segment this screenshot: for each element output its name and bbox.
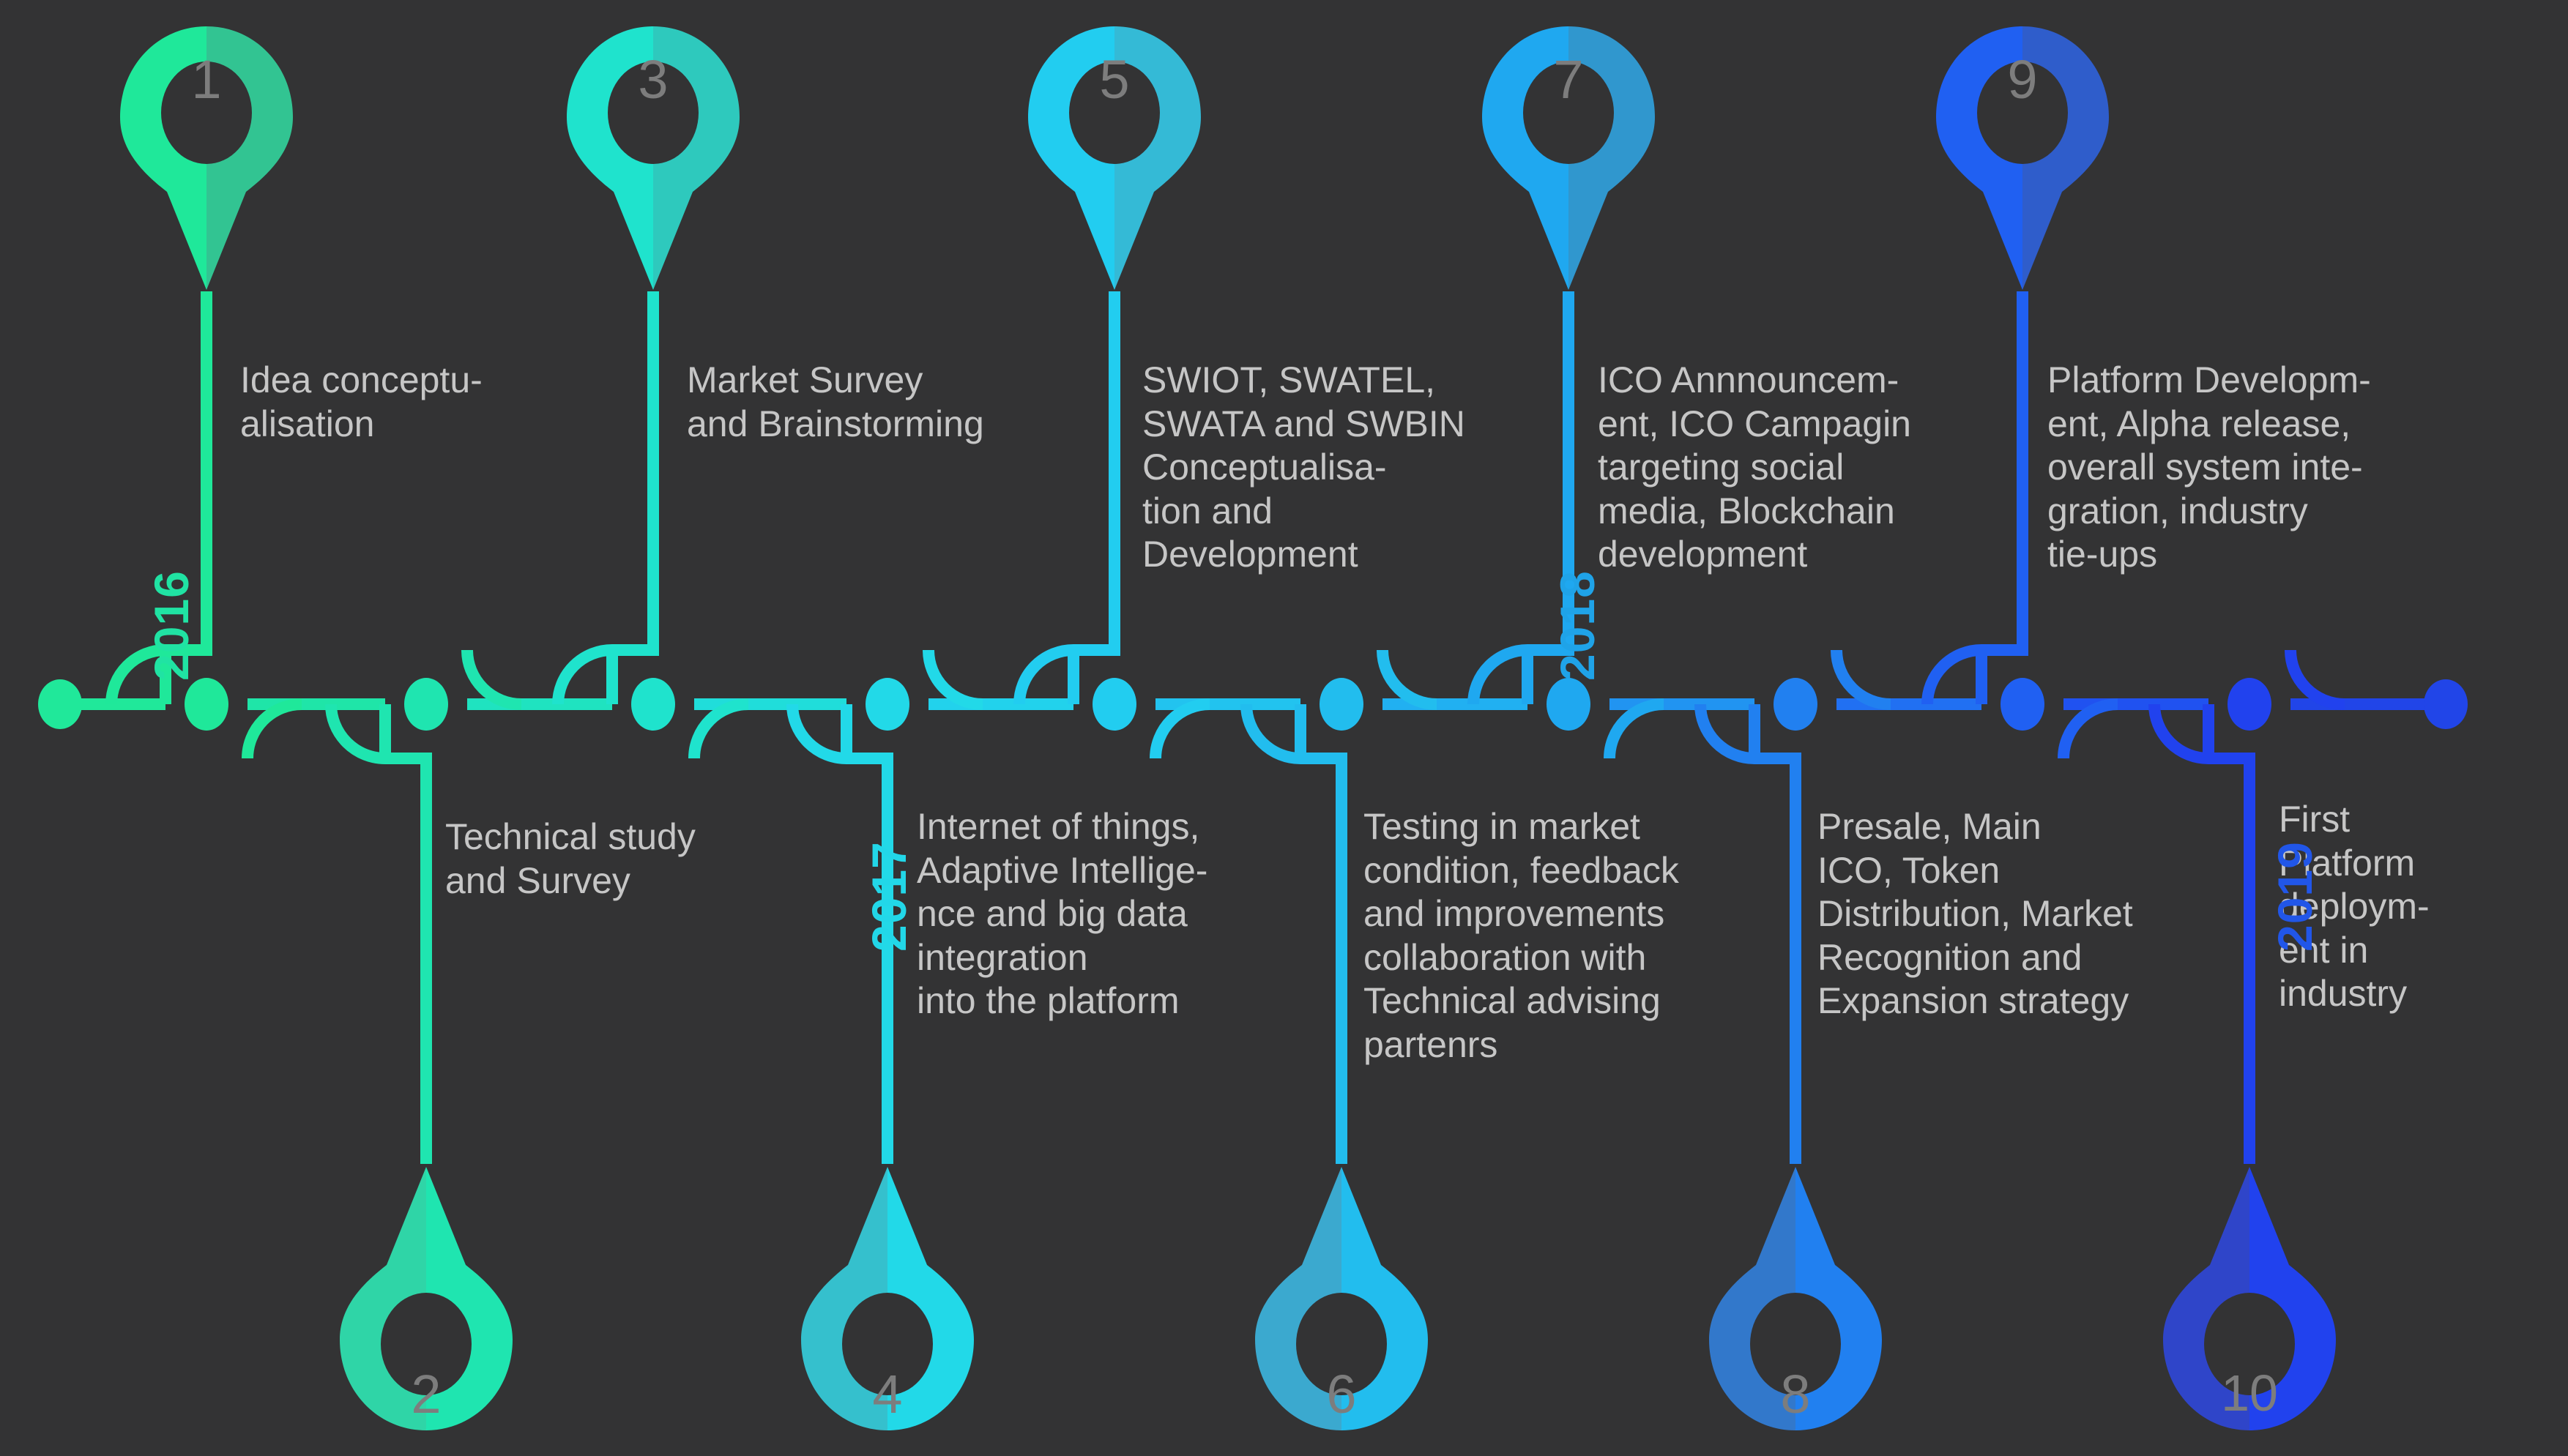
milestone-description-1: Idea conceptu- alisation (240, 359, 483, 446)
branch-connector (1109, 291, 1120, 650)
year-label-2016: 2016 (144, 570, 199, 681)
timeline-start-dot (38, 679, 82, 729)
timeline-node[interactable] (185, 678, 228, 731)
milestone-description-7: ICO Annnouncem- ent, ICO Campagin target… (1598, 359, 1911, 577)
branch-elbow-stub (2203, 704, 2214, 758)
timeline-node[interactable] (1547, 678, 1590, 731)
year-label-2017: 2017 (861, 841, 917, 952)
timeline-node[interactable] (1093, 678, 1136, 731)
milestone-description-9: Platform Developm- ent, Alpha release, o… (2047, 359, 2371, 577)
branch-elbow-stub (841, 704, 852, 758)
branch-elbow-stub (1976, 650, 1987, 704)
milestone-description-3: Market Survey and Brainstorming (687, 359, 984, 446)
map-pin-shape (794, 1164, 981, 1433)
track-elbow-arc-secondary (1155, 704, 1210, 758)
branch-connector (1790, 758, 1801, 1164)
track-elbow-arc (558, 650, 612, 704)
track-elbow-arc-secondary (2063, 704, 2118, 758)
roadmap-timeline: 1 2 3 4 5 6 7 (0, 0, 2568, 1456)
branch-connector (2017, 291, 2028, 650)
track-segment (248, 698, 385, 710)
timeline-node[interactable] (866, 678, 909, 731)
timeline-end-dot (2424, 679, 2468, 729)
branch-elbow-stub (606, 650, 618, 704)
branch-elbow-join (612, 644, 659, 656)
track-elbow-arc (1473, 650, 1527, 704)
track-elbow-arc (331, 704, 385, 758)
track-elbow-arc-secondary (1609, 704, 1664, 758)
map-pin-shape (1702, 1164, 1889, 1433)
track-elbow-arc (2154, 704, 2208, 758)
track-elbow-arc (1927, 650, 1981, 704)
track-elbow-arc-secondary (1836, 650, 1891, 704)
year-label-2019: 2019 (2267, 841, 2323, 952)
branch-elbow-stub (1295, 704, 1306, 758)
track-elbow-arc (1246, 704, 1300, 758)
branch-elbow-join (2208, 753, 2255, 764)
track-elbow-arc-secondary (248, 704, 302, 758)
branch-elbow-join (1073, 644, 1120, 656)
branch-elbow-stub (1522, 650, 1533, 704)
year-label-2018: 2018 (1549, 570, 1605, 681)
branch-elbow-stub (1068, 650, 1079, 704)
timeline-node[interactable] (1774, 678, 1817, 731)
track-elbow-arc-secondary (1382, 650, 1437, 704)
track-elbow-arc-secondary (928, 650, 983, 704)
branch-connector (1336, 758, 1347, 1164)
milestone-description-5: SWIOT, SWATEL, SWATA and SWBIN Conceptua… (1142, 359, 1465, 577)
map-pin-shape (1248, 1164, 1435, 1433)
timeline-node[interactable] (631, 678, 675, 731)
branch-connector (201, 291, 212, 650)
map-pin-shape (2156, 1164, 2343, 1433)
track-elbow-arc-secondary (2290, 650, 2345, 704)
branch-elbow-join (846, 753, 893, 764)
track-elbow-arc-secondary (467, 650, 521, 704)
timeline-node[interactable] (404, 678, 448, 731)
branch-elbow-stub (379, 704, 391, 758)
branch-elbow-join (1300, 753, 1347, 764)
branch-elbow-join (1981, 644, 2028, 656)
track-elbow-arc (792, 704, 846, 758)
branch-connector (882, 758, 893, 1164)
branch-elbow-join (1754, 753, 1801, 764)
map-pin-shape (332, 1164, 520, 1433)
map-pin-shape (1475, 23, 1662, 293)
milestone-description-6: Testing in market condition, feedback an… (1363, 805, 1679, 1067)
milestone-description-4: Internet of things, Adaptive Intellige- … (917, 805, 1207, 1023)
track-elbow-arc-secondary (694, 704, 748, 758)
map-pin-shape (113, 23, 300, 293)
timeline-node[interactable] (2228, 678, 2271, 731)
milestone-description-2: Technical study and Survey (445, 815, 696, 903)
branch-connector (647, 291, 659, 650)
track-elbow-arc (1700, 704, 1754, 758)
milestone-description-8: Presale, Main ICO, Token Distribution, M… (1817, 805, 2133, 1023)
branch-elbow-stub (1749, 704, 1760, 758)
timeline-node[interactable] (1320, 678, 1363, 731)
branch-connector (420, 758, 432, 1164)
branch-elbow-join (385, 753, 432, 764)
map-pin-shape (1929, 23, 2116, 293)
map-pin-shape (559, 23, 747, 293)
track-elbow-arc (1019, 650, 1073, 704)
branch-connector (2244, 758, 2255, 1164)
map-pin-shape (1021, 23, 1208, 293)
timeline-node[interactable] (2001, 678, 2044, 731)
